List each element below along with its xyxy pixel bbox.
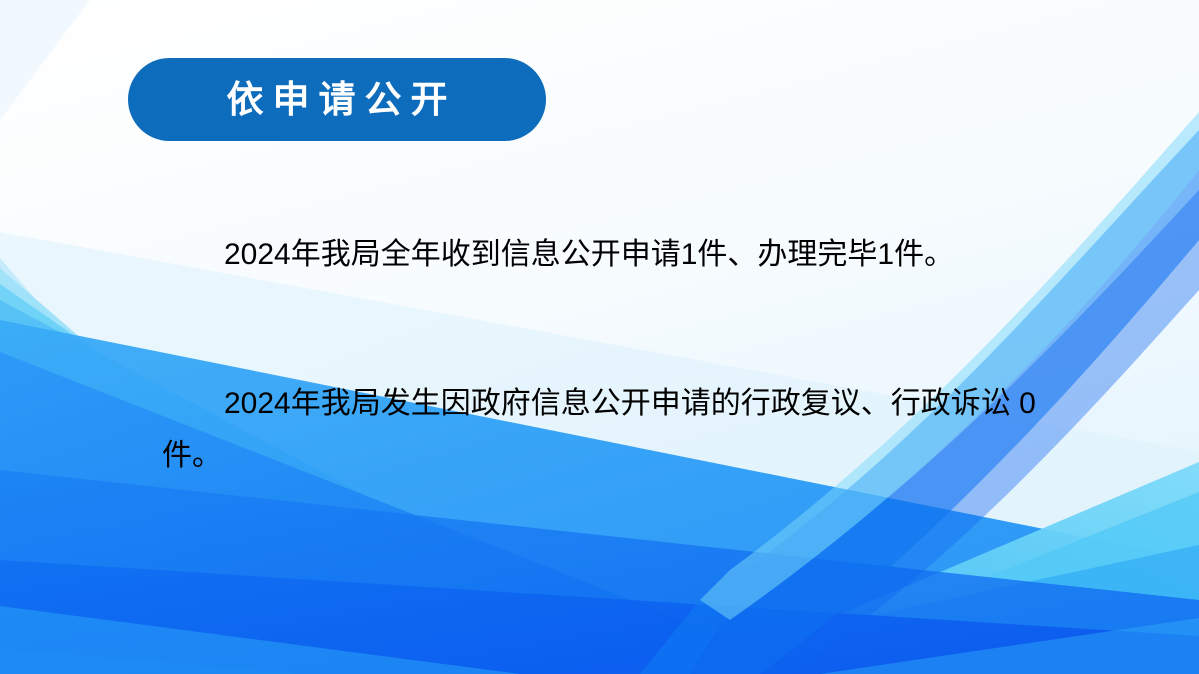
section-title-label: 依申请公开 — [218, 81, 457, 118]
slide-canvas: 依申请公开 2024年我局全年收到信息公开申请1件、办理完毕1件。 2024年我… — [0, 0, 1199, 674]
section-title-pill: 依申请公开 — [128, 58, 546, 141]
body-paragraph-2: 2024年我局发生因政府信息公开申请的行政复议、行政诉讼 0件。 — [162, 378, 1042, 482]
slide-content: 依申请公开 2024年我局全年收到信息公开申请1件、办理完毕1件。 2024年我… — [0, 0, 1199, 674]
body-paragraph-1: 2024年我局全年收到信息公开申请1件、办理完毕1件。 — [162, 229, 1062, 281]
